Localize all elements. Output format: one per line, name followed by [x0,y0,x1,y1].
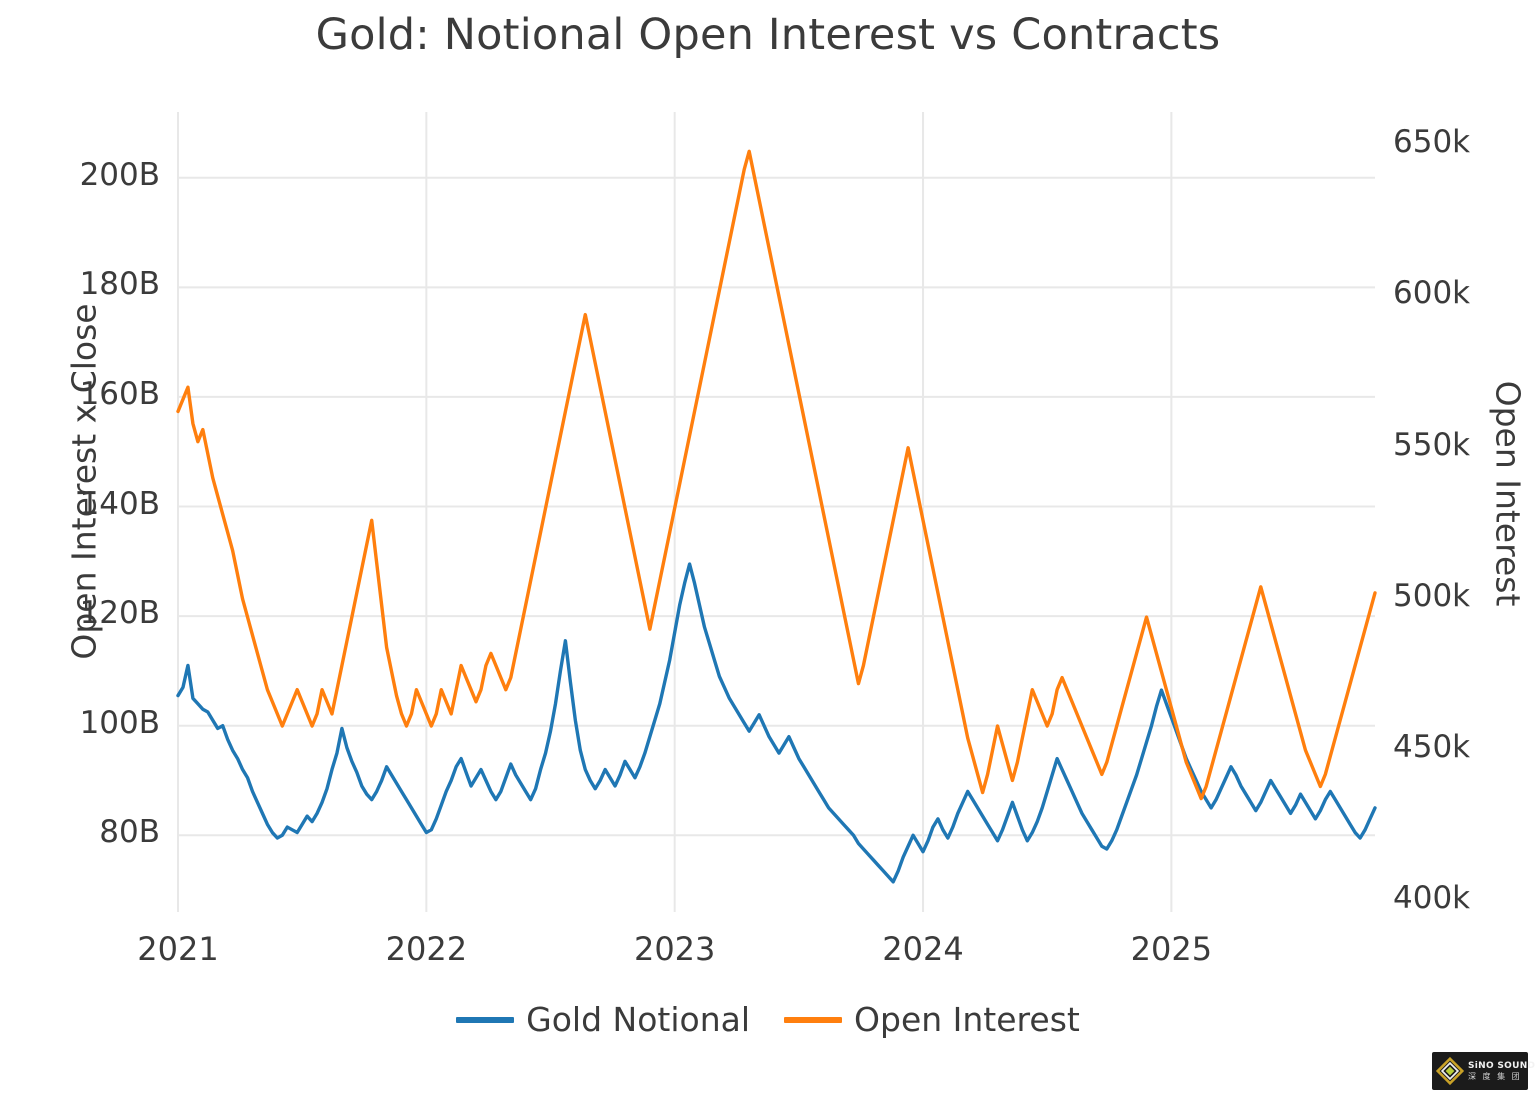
x-tick-label: 2023 [595,930,755,968]
series-line [178,151,1375,798]
gridlines [178,112,1375,912]
x-tick-label: 2022 [346,930,506,968]
y-tick-label-right: 450k [1393,729,1533,765]
y-tick-label-left: 80B [20,814,160,850]
y-tick-label-left: 120B [20,595,160,631]
x-tick-label: 2024 [843,930,1003,968]
y-tick-label-left: 200B [20,157,160,193]
y-tick-label-right: 650k [1393,124,1533,160]
series-lines [178,151,1375,882]
y-tick-label-right: 400k [1393,880,1533,916]
watermark-badge: SiNO SOUND 深 度 集 团 [1432,1052,1528,1090]
x-tick-label: 2021 [98,930,258,968]
y-tick-label-left: 100B [20,705,160,741]
x-tick-label: 2025 [1091,930,1251,968]
diamond-logo-icon [1436,1057,1464,1085]
y-tick-label-right: 500k [1393,578,1533,614]
y-tick-label-right: 600k [1393,275,1533,311]
y-tick-label-left: 140B [20,486,160,522]
watermark-brand-en: SiNO SOUND [1468,1062,1535,1071]
y-tick-label-left: 180B [20,266,160,302]
watermark-brand-cn: 深 度 集 团 [1468,1073,1535,1081]
y-tick-label-left: 160B [20,376,160,412]
series-line [178,564,1375,882]
y-tick-label-right: 550k [1393,427,1533,463]
chart-figure: Gold: Notional Open Interest vs Contract… [0,0,1536,1097]
